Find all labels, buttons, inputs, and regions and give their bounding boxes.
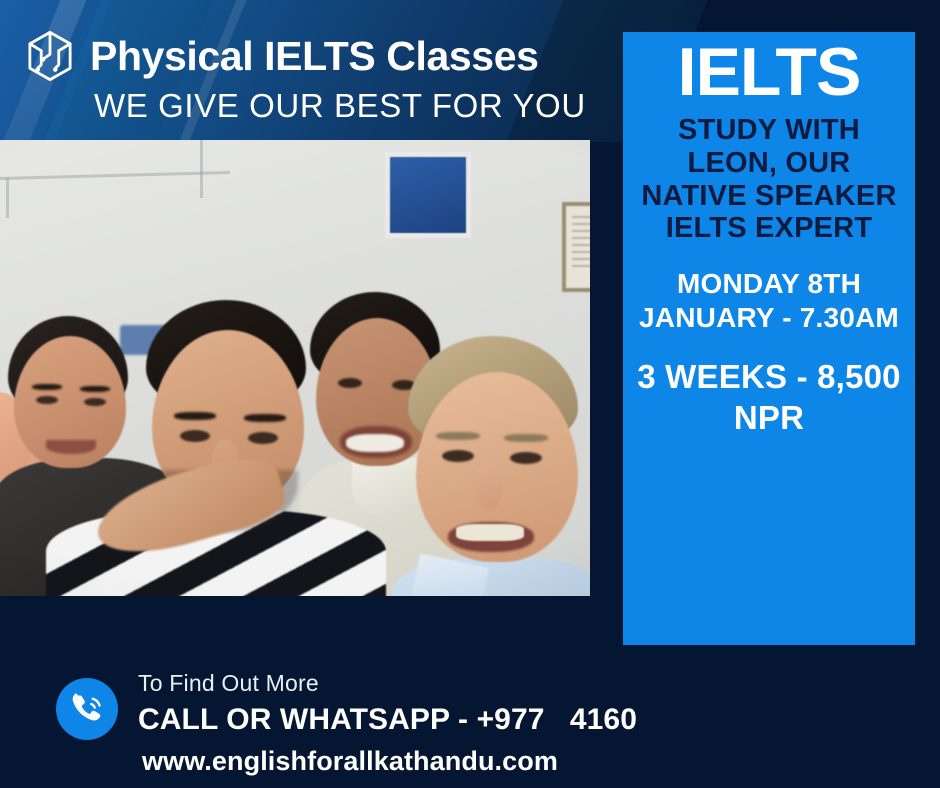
- photo-vignette: [0, 140, 590, 596]
- phone-call-icon: [56, 678, 118, 740]
- footer-content: To Find Out More CALL OR WHATSAPP - +977…: [56, 670, 940, 777]
- footer-call-whatsapp[interactable]: CALL OR WHATSAPP - +977 4160: [138, 703, 637, 737]
- class-photo-illustration: [0, 140, 590, 596]
- class-photo: [0, 140, 590, 596]
- footer-contact-bar: To Find Out More CALL OR WHATSAPP - +977…: [0, 648, 940, 788]
- page-title: Physical IELTS Classes: [90, 36, 539, 77]
- promo-panel: IELTS STUDY WITH LEON, OUR NATIVE SPEAKE…: [623, 32, 915, 645]
- promo-description: STUDY WITH LEON, OUR NATIVE SPEAKER IELT…: [633, 114, 905, 245]
- footer-website-link[interactable]: www.englishforallkathandu.com: [142, 746, 637, 777]
- brand-tagline: WE GIVE OUR BEST FOR YOU: [94, 87, 586, 125]
- hexagon-cube-circuit-logo-icon: [22, 28, 78, 84]
- footer-text-block: To Find Out More CALL OR WHATSAPP - +977…: [138, 670, 637, 777]
- brand-lockup: Physical IELTS Classes WE GIVE OUR BEST …: [22, 28, 622, 125]
- footer-find-out-more-label: To Find Out More: [138, 670, 637, 697]
- promo-schedule: MONDAY 8TH JANUARY - 7.30AM: [633, 267, 905, 335]
- promo-heading: IELTS: [678, 38, 861, 106]
- brand-row: Physical IELTS Classes: [22, 28, 539, 84]
- poster-canvas: Physical IELTS Classes WE GIVE OUR BEST …: [0, 0, 940, 788]
- promo-price: 3 WEEKS - 8,500 NPR: [633, 357, 905, 438]
